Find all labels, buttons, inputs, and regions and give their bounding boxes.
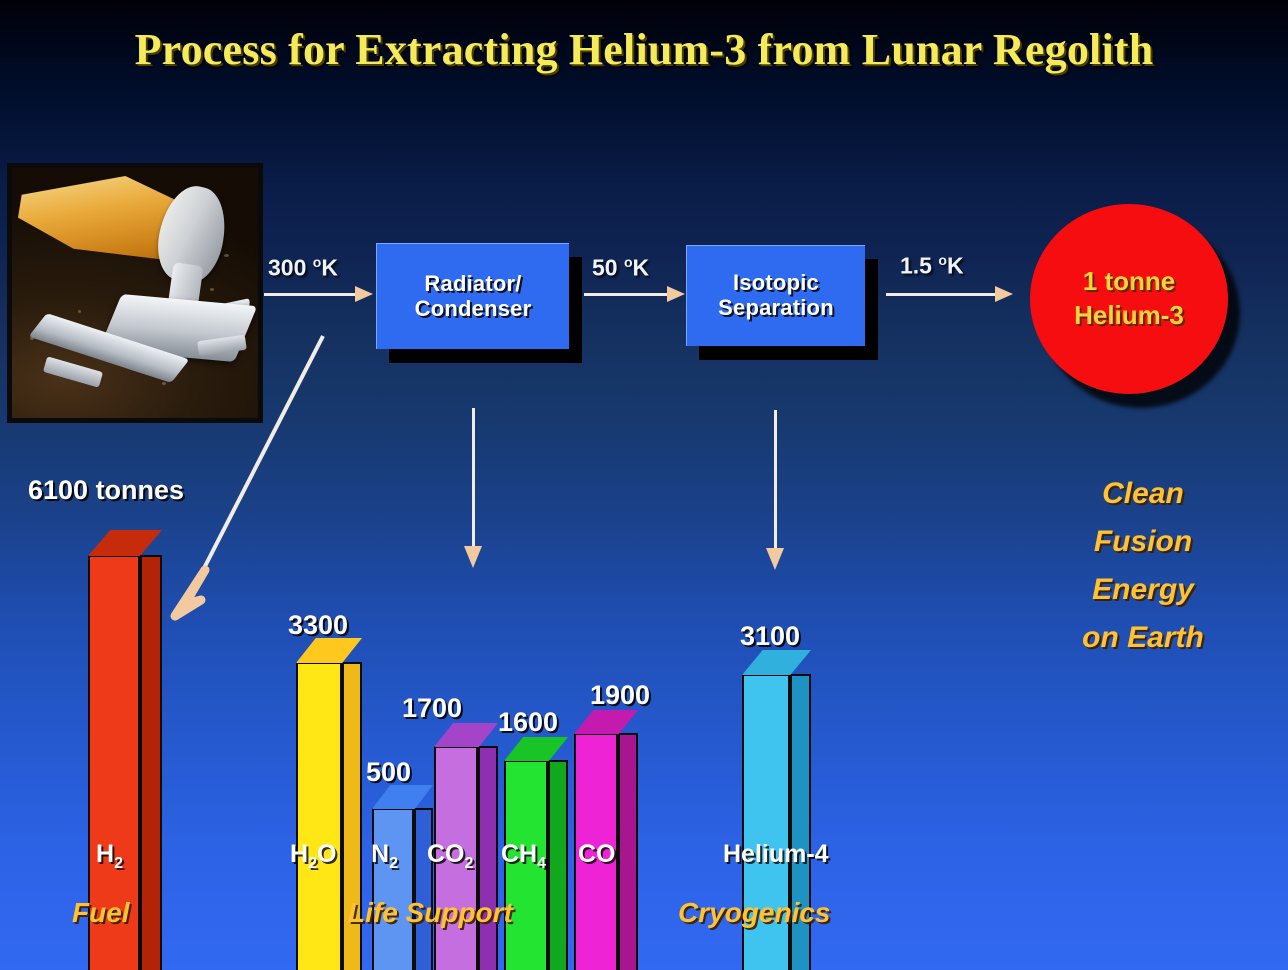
- radiator-line-1: Radiator/: [415, 272, 532, 297]
- bar-value-helium-4: 3100: [740, 621, 800, 652]
- bar-n2-front: [372, 808, 414, 970]
- category-label-h2o: H2O: [290, 840, 336, 873]
- category-label-h2: H2: [96, 840, 123, 873]
- output-node-helium-3[interactable]: 1 tonne Helium-3: [1030, 204, 1228, 394]
- group-label-fuel: Fuel: [72, 897, 130, 929]
- bar-n2[interactable]: [372, 785, 414, 970]
- group-label-life-support: Life Support: [348, 897, 513, 929]
- category-label-helium-4: Helium-4: [723, 840, 829, 869]
- group-label-cryogenics: Cryogenics: [678, 897, 831, 929]
- caption-line-2: Fusion: [1018, 518, 1268, 566]
- bar-h2o[interactable]: [296, 638, 342, 970]
- output-node-label: 1 tonne Helium-3: [1074, 265, 1184, 333]
- flow-arrow-to-radiator-icon: [264, 293, 356, 296]
- category-label-ch4: CH4: [501, 840, 546, 873]
- degree-icon: o: [624, 254, 633, 270]
- bar-ch4-side: [548, 760, 568, 970]
- process-box-isotopic-separation[interactable]: Isotopic Separation: [686, 245, 865, 346]
- bar-co2-side: [478, 746, 498, 970]
- output-line-2: Helium-3: [1074, 299, 1184, 333]
- isotopic-line-2: Separation: [718, 296, 834, 321]
- bar-value-ch4: 1600: [498, 707, 558, 738]
- temperature-label-300k: 300 oK: [268, 254, 338, 282]
- process-box-radiator-label: Radiator/ Condenser: [415, 272, 532, 321]
- benefit-caption: Clean Fusion Energy on Earth: [1018, 470, 1268, 662]
- bar-h2-side: [140, 555, 162, 970]
- degree-icon: o: [938, 252, 947, 268]
- category-label-co: CO: [578, 840, 616, 869]
- temperature-value-50: 50: [592, 255, 618, 281]
- caption-line-3: Energy: [1018, 566, 1268, 614]
- flow-arrow-to-isotopic-icon: [584, 293, 668, 296]
- flow-arrow-to-output-icon: [886, 293, 996, 296]
- bar-n2-side: [414, 808, 433, 970]
- bar-co-side: [618, 733, 638, 970]
- slide-canvas: Process for Extracting Helium-3 from Lun…: [0, 0, 1288, 970]
- bar-ch4-top: [504, 737, 568, 761]
- caption-line-4: on Earth: [1018, 614, 1268, 662]
- caption-line-1: Clean: [1018, 470, 1268, 518]
- process-box-radiator-condenser[interactable]: Radiator/ Condenser: [376, 243, 569, 349]
- bar-h2o-top: [296, 638, 362, 663]
- temperature-value-300: 300: [268, 255, 306, 281]
- byproduct-bar-chart: 6100 tonnes 3300 500 1700 1600: [0, 455, 960, 855]
- category-label-n2: N2: [371, 840, 398, 873]
- bar-co2-top: [434, 723, 498, 747]
- bar-value-h2: 6100 tonnes: [28, 475, 184, 506]
- bar-n2-top: [372, 785, 433, 809]
- temperature-label-1-5k: 1.5 oK: [900, 252, 964, 280]
- bar-value-co: 1900: [590, 680, 650, 711]
- process-box-isotopic-label: Isotopic Separation: [718, 271, 834, 320]
- bar-value-co2: 1700: [402, 693, 462, 724]
- temperature-label-50k: 50 oK: [592, 254, 649, 282]
- page-title: Process for Extracting Helium-3 from Lun…: [0, 24, 1288, 75]
- category-label-co2: CO2: [427, 840, 473, 873]
- isotopic-line-1: Isotopic: [718, 271, 834, 296]
- radiator-line-2: Condenser: [415, 297, 532, 322]
- temperature-value-1-5: 1.5: [900, 253, 932, 279]
- output-line-1: 1 tonne: [1074, 265, 1184, 299]
- bar-value-h2o: 3300: [288, 610, 348, 641]
- bar-co-top: [574, 710, 638, 734]
- bar-h2o-front: [296, 662, 342, 970]
- bar-value-n2: 500: [366, 757, 411, 788]
- bar-h2-top: [88, 530, 162, 556]
- bar-helium-4-top: [742, 650, 811, 675]
